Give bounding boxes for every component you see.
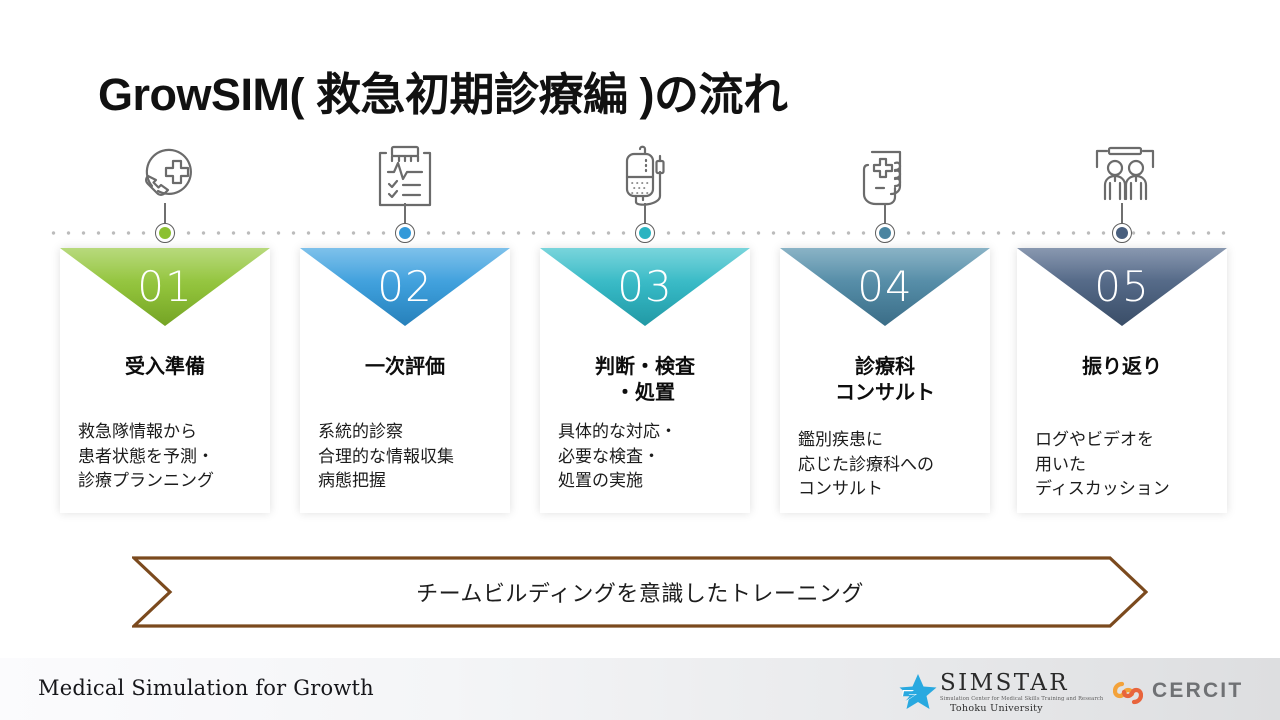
timeline-node-1[interactable] (155, 223, 175, 243)
banner-text: チームビルディングを意識したトレーニング (132, 556, 1148, 628)
step-title: 受入準備 (60, 354, 270, 380)
step-card-2[interactable]: 02 一次評価 系統的診察合理的な情報収集病態把握 (300, 248, 510, 513)
footer-tagline: Medical Simulation for Growth (38, 676, 374, 700)
timeline-stem-4 (884, 203, 886, 225)
step-description: 系統的診察合理的な情報収集病態把握 (318, 420, 504, 494)
step-number: 04 (780, 262, 990, 311)
cercit-logo[interactable]: CERCIT (1113, 678, 1253, 708)
timeline-node-5[interactable] (1112, 223, 1132, 243)
step-description: 具体的な対応・必要な検査・処置の実施 (558, 420, 744, 494)
timeline-stem-3 (644, 203, 646, 225)
simstar-university: Tohoku University (950, 703, 1043, 714)
timeline-node-dot (159, 227, 171, 239)
step-number: 05 (1017, 262, 1227, 311)
step-number: 02 (300, 262, 510, 311)
step-description: 鑑別疾患に応じた診療科へのコンサルト (798, 428, 984, 502)
timeline-node-4[interactable] (875, 223, 895, 243)
step-number: 01 (60, 262, 270, 311)
step-card-4[interactable]: 04 診療科コンサルト 鑑別疾患に応じた診療科へのコンサルト (780, 248, 990, 513)
step-title: 診療科コンサルト (780, 354, 990, 407)
step-title: 振り返り (1017, 354, 1227, 380)
page-title: GrowSIM( 救急初期診療編 )の流れ (98, 58, 787, 123)
training-banner: チームビルディングを意識したトレーニング (132, 556, 1148, 628)
timeline-node-dot (1116, 227, 1128, 239)
timeline-node-dot (879, 227, 891, 239)
timeline-node-2[interactable] (395, 223, 415, 243)
simstar-star-icon (898, 671, 938, 711)
timeline-stem-5 (1121, 203, 1123, 225)
two-people-debrief-icon (1065, 126, 1185, 226)
timeline-stem-1 (164, 203, 166, 225)
simstar-wordmark: SIMSTAR (940, 670, 1069, 696)
simstar-logo[interactable]: SIMSTAR Simulation Center for Medical Sk… (898, 670, 1076, 714)
cercit-wordmark: CERCIT (1152, 679, 1243, 703)
step-card-5[interactable]: 05 振り返り ログやビデオを用いたディスカッション (1017, 248, 1227, 513)
cercit-swirl-icon (1113, 678, 1143, 708)
timeline-node-3[interactable] (635, 223, 655, 243)
timeline-stem-2 (404, 203, 406, 225)
step-card-1[interactable]: 01 受入準備 救急隊情報から患者状態を予測・診療プランニング (60, 248, 270, 513)
step-card-3[interactable]: 03 判断・検査・処置 具体的な対応・必要な検査・処置の実施 (540, 248, 750, 513)
step-description: 救急隊情報から患者状態を予測・診療プランニング (78, 420, 264, 494)
timeline-icon-row (0, 126, 1280, 226)
timeline-node-dot (399, 227, 411, 239)
step-number: 03 (540, 262, 750, 311)
step-description: ログやビデオを用いたディスカッション (1035, 428, 1221, 502)
step-title: 判断・検査・処置 (540, 354, 750, 407)
timeline-node-dot (639, 227, 651, 239)
simstar-subtitle: Simulation Center for Medical Skills Tra… (940, 696, 1103, 702)
step-title: 一次評価 (300, 354, 510, 380)
slide-root: GrowSIM( 救急初期診療編 )の流れ (0, 0, 1280, 720)
